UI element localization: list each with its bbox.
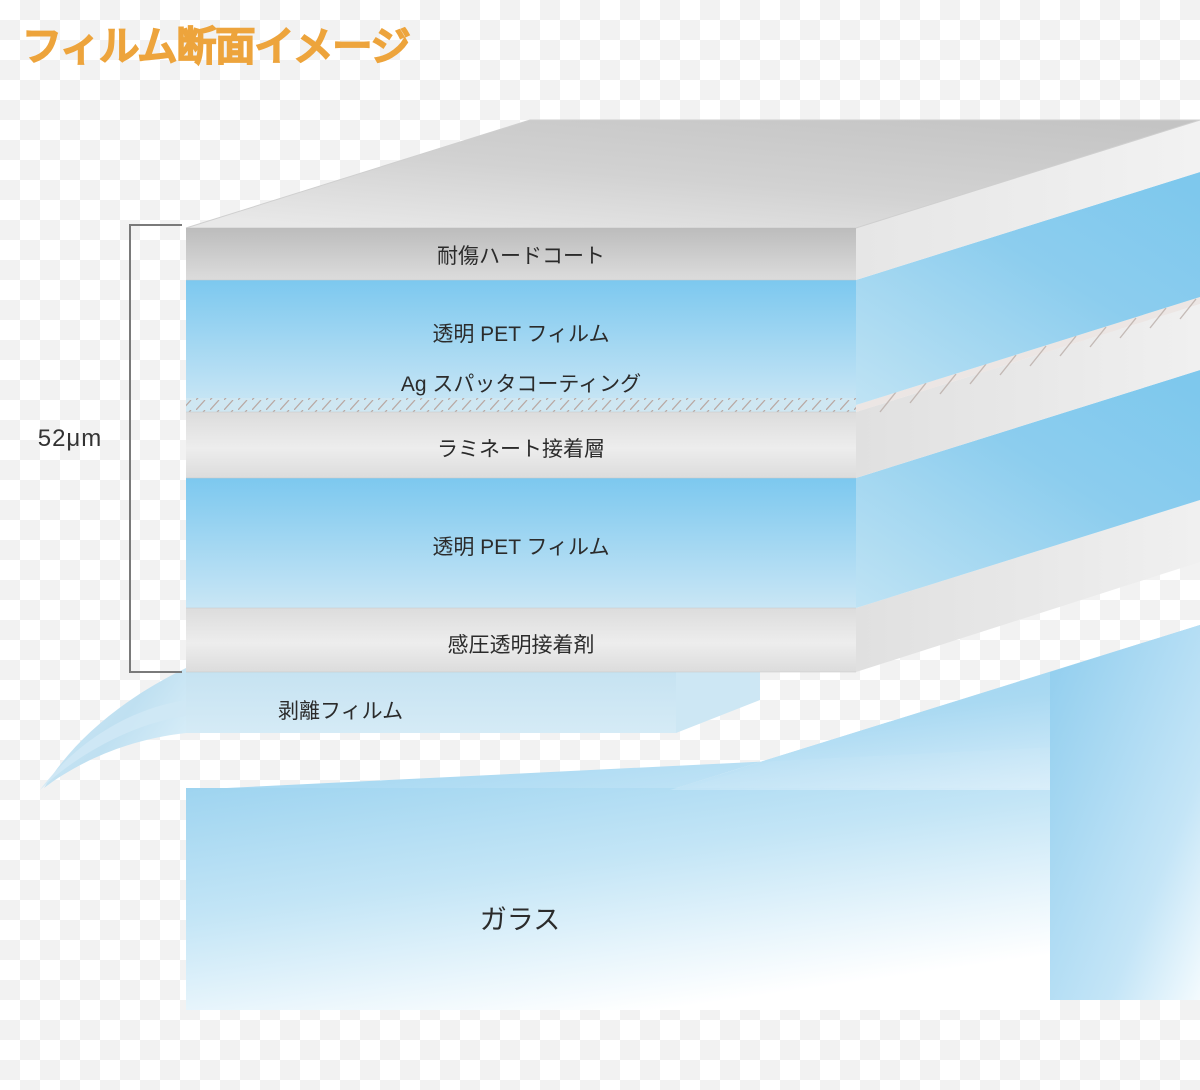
film-cross-section-diagram: フィルム断面イメージ	[0, 0, 1200, 1090]
diagram-artwork	[0, 0, 1200, 1090]
thickness-bracket	[130, 225, 182, 672]
ag-sputter-front-hatch	[186, 398, 856, 412]
page-title: フィルム断面イメージ	[22, 14, 410, 72]
pet-bottom-front-face	[186, 478, 856, 608]
film-stack	[186, 120, 1200, 672]
release-film-front-face	[186, 668, 676, 733]
hard-coat-front-face	[186, 228, 856, 280]
glass-right-side	[1050, 625, 1200, 1000]
pet-top-front-face	[186, 280, 856, 405]
glass-front-face	[186, 788, 1050, 1010]
laminate-front-face	[186, 412, 856, 478]
psa-front-face	[186, 608, 856, 672]
